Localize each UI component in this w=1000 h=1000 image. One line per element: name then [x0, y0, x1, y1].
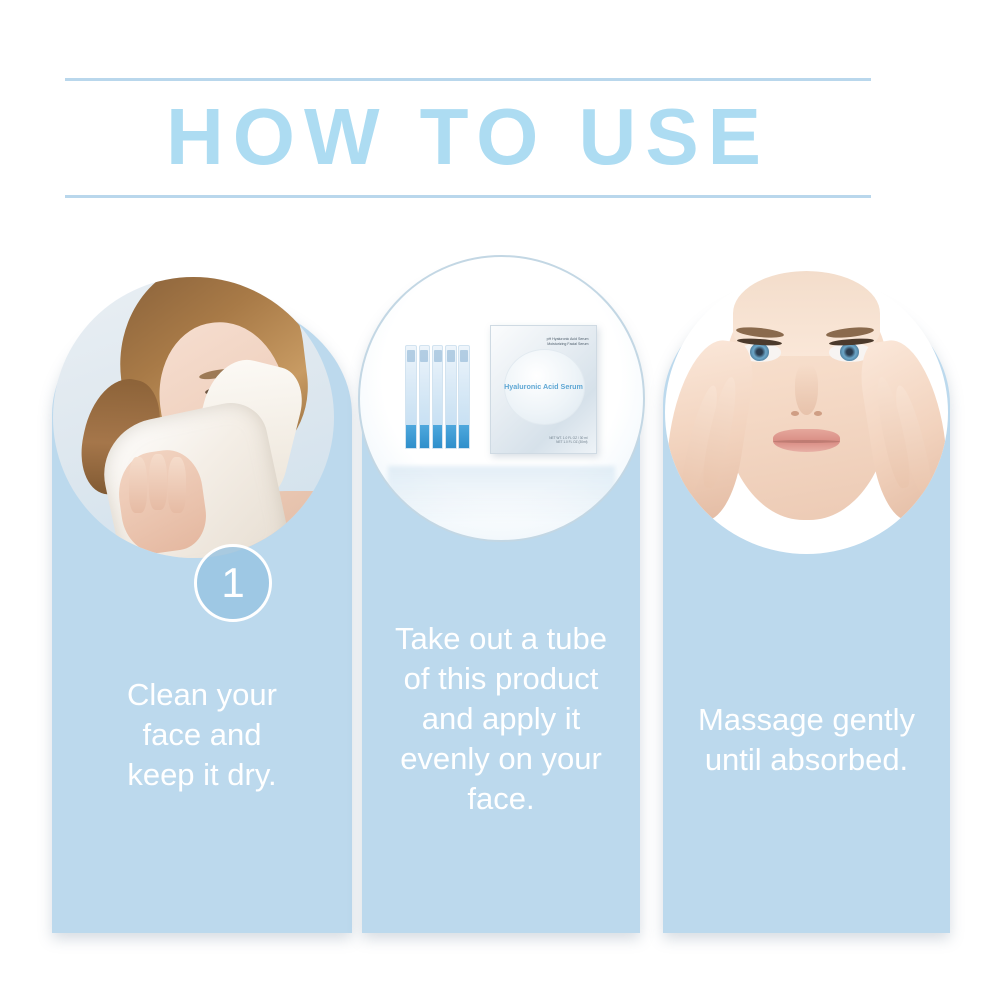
caption-line: Massage gently	[663, 700, 950, 740]
step-card-3: 3 Massage gently until absorbed.	[663, 285, 950, 933]
product-reflection	[388, 466, 614, 523]
caption-line: of this product	[362, 659, 640, 699]
finger-shape	[149, 454, 167, 510]
iris-right	[840, 343, 859, 361]
product-box-top-text: pH Hyaluronic Acid Serum Moisturizing Fa…	[534, 337, 588, 347]
caption-line: face and	[52, 715, 352, 755]
steps-container: 1 Clean your face and keep it dry.	[0, 0, 1000, 1000]
step-caption-1: Clean your face and keep it dry.	[52, 675, 352, 795]
nose-shape	[795, 364, 818, 415]
caption-line: face.	[362, 779, 640, 819]
caption-line: keep it dry.	[52, 755, 352, 795]
ampoule-tube	[445, 345, 457, 449]
caption-line: Clean your	[52, 675, 352, 715]
caption-line: evenly on your	[362, 739, 640, 779]
serum-ampoules	[405, 345, 479, 447]
product-photo: pH Hyaluronic Acid Serum Moisturizing Fa…	[360, 257, 643, 540]
product-fine-print: NET WT. 1.0 FL OZ / 30 ml NET 1.0 FL OZ …	[537, 436, 587, 445]
caption-line: and apply it	[362, 699, 640, 739]
ampoule-tube	[419, 345, 431, 449]
step-card-2: pH Hyaluronic Acid Serum Moisturizing Fa…	[362, 265, 640, 933]
step-number-1: 1	[221, 562, 244, 604]
step-3-photo	[665, 271, 948, 554]
step-badge-1: 1	[194, 544, 272, 622]
finger-shape	[168, 457, 186, 513]
step-card-1: 1 Clean your face and keep it dry.	[52, 295, 352, 933]
fine-print-line: NET 1.0 FL OZ (30ml)	[537, 440, 587, 444]
step-1-photo	[53, 277, 334, 558]
caption-line: until absorbed.	[663, 740, 950, 780]
lip-line	[773, 440, 841, 443]
finger-shape	[129, 457, 147, 513]
product-subtitle-line: Moisturizing Facial Serum	[534, 342, 588, 347]
caption-line: Take out a tube	[362, 619, 640, 659]
ampoule-tube	[432, 345, 444, 449]
product-name: Hyaluronic Acid Serum	[496, 382, 590, 391]
step-caption-2: Take out a tube of this product and appl…	[362, 619, 640, 819]
step-2-photo: pH Hyaluronic Acid Serum Moisturizing Fa…	[358, 255, 645, 542]
step-caption-3: Massage gently until absorbed.	[663, 700, 950, 780]
iris-left	[750, 343, 769, 361]
ampoule-tube	[458, 345, 470, 449]
product-box: pH Hyaluronic Acid Serum Moisturizing Fa…	[490, 325, 597, 454]
ampoule-tube	[405, 345, 417, 449]
